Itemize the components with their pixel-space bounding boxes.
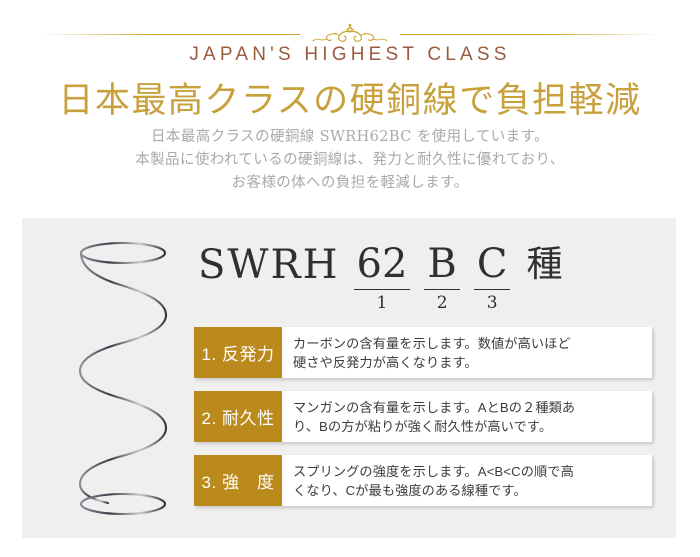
spec-row-3-line-1: スプリングの強度を示します。A<B<Cの順で高 [293,462,642,481]
code-part-3-index: 3 [487,290,498,313]
subtitle-line-1: 日本最高クラスの硬銅線 SWRH62BC を使用しています。 [0,126,700,149]
spec-row-2-line-2: り、Bの方が粘りが強く耐久性が高いです。 [293,417,642,436]
table-row: 2. 耐久性 マンガンの含有量を示します。AとBの２種類あ り、Bの方が粘りが強… [194,391,652,442]
spec-panel: SWRH 62 1 B 2 C 3 種 1. 反発力 カーボンの含有量を示します… [22,218,676,538]
spec-row-3-description: スプリングの強度を示します。A<B<Cの順で高 くなり、Cが最も強度のある線種で… [282,455,652,506]
page-title: 日本最高クラスの硬銅線で負担軽減 [0,72,700,123]
code-part-1-index: 1 [377,290,388,313]
spec-row-2-line-1: マンガンの含有量を示します。AとBの２種類あ [293,398,642,417]
spec-row-3-label: 3. 強 度 [194,455,282,506]
subtitle-line-3: お客様の体への負担を軽減します。 [0,172,700,195]
subtitle-line-2: 本製品に使われているの硬銅線は、発力と耐久性に優れており、 [0,149,700,172]
coil-spring-illustration [58,236,188,521]
promo-page: JAPAN'S HIGHEST CLASS 日本最高クラスの硬銅線で負担軽減 日… [0,0,700,557]
spec-row-1-line-2: 硬さや反発力が高くなります。 [293,353,642,372]
spec-row-3-line-2: くなり、Cが最も強度のある線種です。 [293,481,642,500]
spec-row-1-line-1: カーボンの含有量を示します。数値が高いほど [293,334,642,353]
code-part-2: B 2 [424,240,459,313]
code-part-3: C 3 [474,240,511,313]
eyebrow-text: JAPAN'S HIGHEST CLASS [0,44,700,66]
code-part-3-value: C [474,240,511,290]
spec-row-2-description: マンガンの含有量を示します。AとBの２種類あ り、Bの方が粘りが強く耐久性が高い… [282,391,652,442]
code-part-1: 62 1 [354,240,411,313]
code-part-1-value: 62 [354,240,411,290]
table-row: 3. 強 度 スプリングの強度を示します。A<B<Cの順で高 くなり、Cが最も強… [194,455,652,506]
spec-row-2-label: 2. 耐久性 [194,391,282,442]
spec-row-1-label: 1. 反発力 [194,327,282,378]
wire-code-heading: SWRH 62 1 B 2 C 3 種 [198,240,562,313]
spec-row-1-description: カーボンの含有量を示します。数値が高いほど 硬さや反発力が高くなります。 [282,327,652,378]
divider-rule-left [40,34,300,35]
code-prefix: SWRH [198,240,340,290]
code-part-2-value: B [424,240,459,290]
subtitle-block: 日本最高クラスの硬銅線 SWRH62BC を使用しています。 本製品に使われてい… [0,126,700,195]
code-suffix: 種 [526,240,562,290]
spec-row-list: 1. 反発力 カーボンの含有量を示します。数値が高いほど 硬さや反発力が高くなり… [194,327,652,519]
divider-rule-right [400,34,660,35]
table-row: 1. 反発力 カーボンの含有量を示します。数値が高いほど 硬さや反発力が高くなり… [194,327,652,378]
code-part-2-index: 2 [437,290,448,313]
